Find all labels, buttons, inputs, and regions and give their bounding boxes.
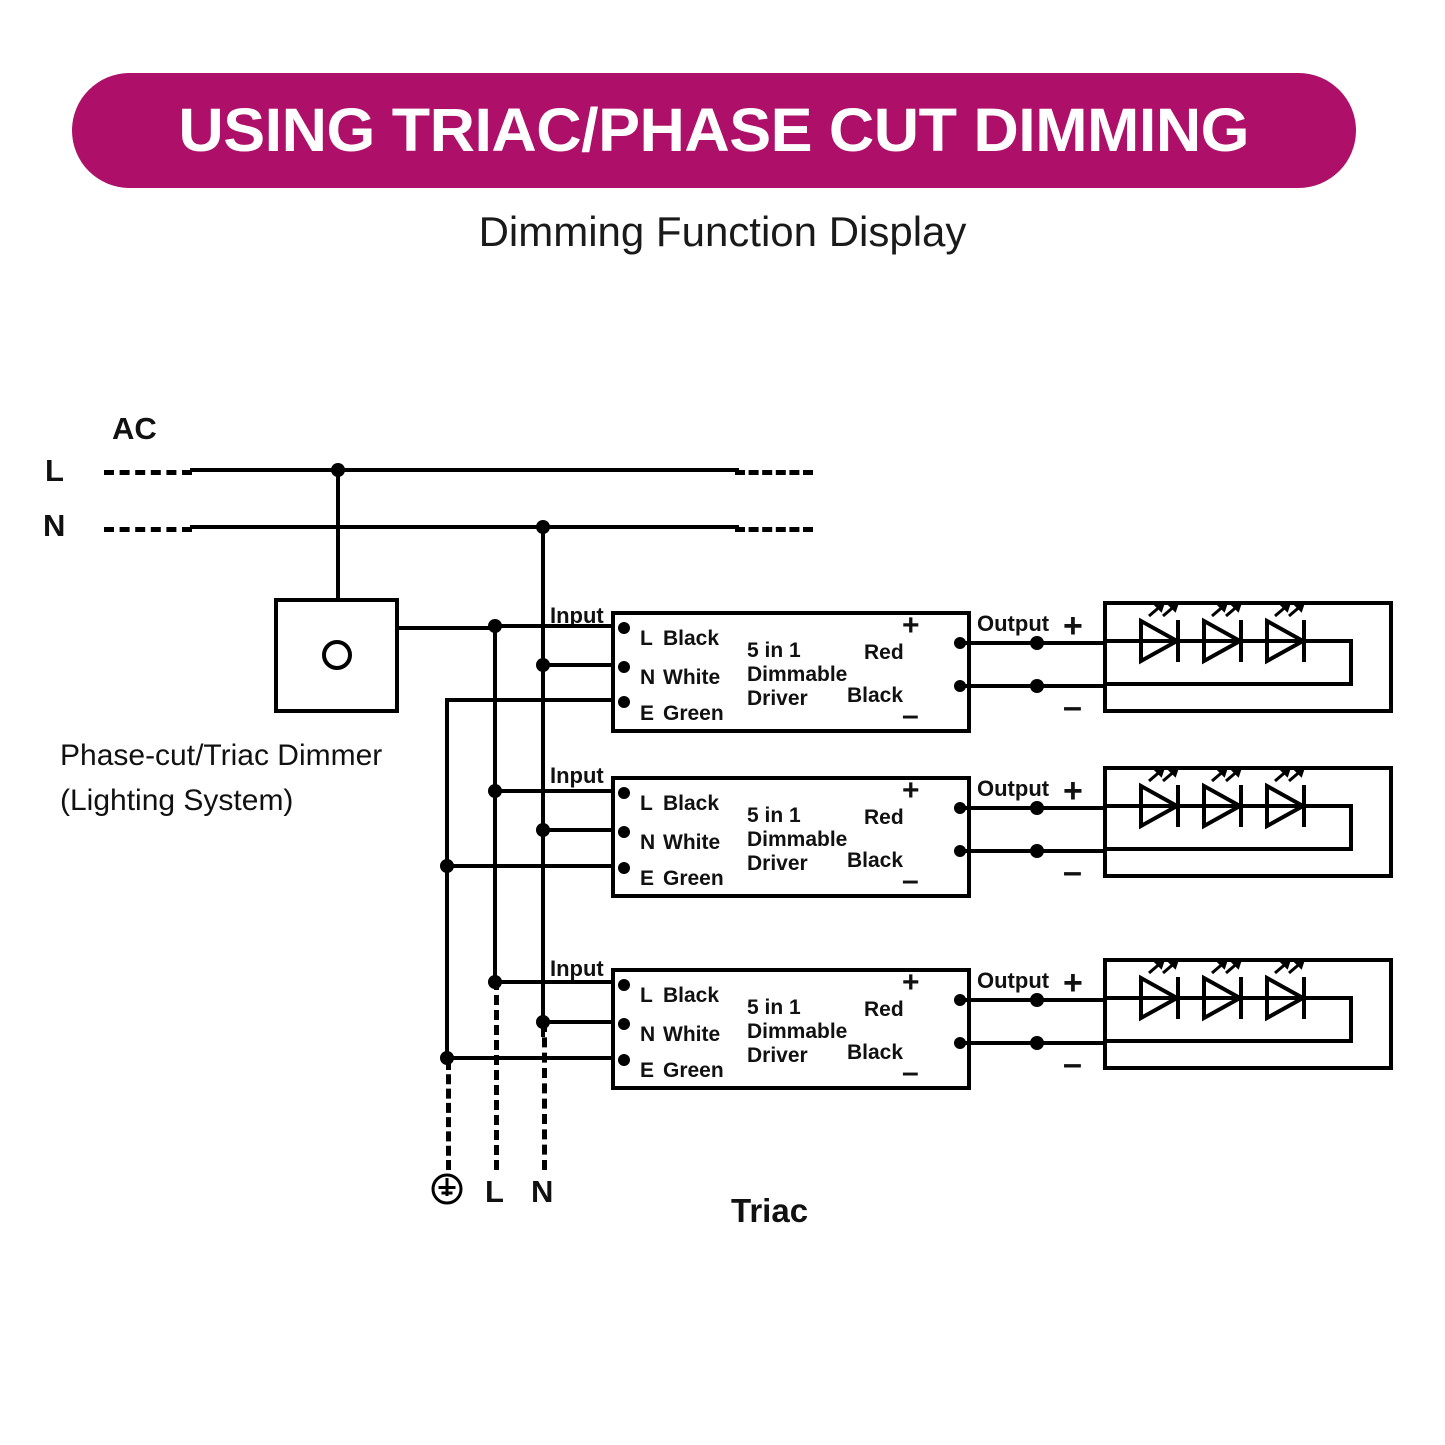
driver-3-pin-l: L bbox=[640, 984, 653, 1008]
supply-line-label: L bbox=[45, 453, 64, 489]
driver-3-wire-l: Black bbox=[663, 984, 719, 1008]
driver-3-term-e-dot bbox=[618, 1054, 630, 1066]
dimmer-caption-line1: Phase-cut/Triac Dimmer bbox=[60, 738, 382, 775]
driver-2-name-3: Driver bbox=[747, 852, 808, 877]
output-label-2: Output bbox=[975, 776, 1051, 802]
diagram-page: USING TRIAC/PHASE CUT DIMMING Dimming Fu… bbox=[0, 0, 1445, 1445]
driver-1-term-l-dot bbox=[618, 622, 630, 634]
driver-2-term-n-dot bbox=[618, 826, 630, 838]
e-feed-1 bbox=[445, 698, 613, 702]
driver-3-plus: + bbox=[902, 968, 920, 998]
driver-1-pin-l: L bbox=[640, 627, 653, 651]
driver-2-out-red: Red bbox=[864, 806, 904, 830]
l-feed-1 bbox=[493, 624, 613, 628]
driver-1-out-red: Red bbox=[864, 641, 904, 665]
driver-1-pin-n: N bbox=[640, 666, 655, 690]
out-minus-node-3 bbox=[1030, 1036, 1044, 1050]
junction-n-rail-bus bbox=[536, 520, 550, 534]
l-rail-dash-left bbox=[104, 470, 192, 475]
rotary-knob-icon[interactable] bbox=[322, 640, 352, 670]
output-label-3: Output bbox=[975, 968, 1051, 994]
l-rail bbox=[190, 468, 739, 472]
l-feed-2 bbox=[493, 789, 613, 793]
n-rail-dash-right bbox=[735, 527, 813, 532]
earth-bus-dash bbox=[446, 1060, 451, 1170]
junction-l-2 bbox=[488, 784, 502, 798]
led-array-icon-2 bbox=[1103, 766, 1393, 878]
driver-1-wire-l: Black bbox=[663, 627, 719, 651]
l-bus bbox=[493, 624, 497, 980]
e-feed-2 bbox=[445, 864, 613, 868]
ac-label: AC bbox=[112, 411, 157, 447]
driver-1-name-3: Driver bbox=[747, 687, 808, 712]
driver-2-out-black: Black bbox=[847, 849, 903, 873]
driver-3-out-red: Red bbox=[864, 998, 904, 1022]
n-rail-to-bus-drop bbox=[541, 525, 545, 1037]
driver-3-term-l-dot bbox=[618, 979, 630, 991]
page-title: USING TRIAC/PHASE CUT DIMMING bbox=[179, 100, 1250, 161]
driver-3-pin-e: E bbox=[640, 1059, 654, 1083]
n-feed-3 bbox=[541, 1020, 613, 1024]
driver-1-term-e-dot bbox=[618, 696, 630, 708]
driver-1-name-1: 5 in 1 bbox=[747, 639, 801, 664]
input-label-2: Input bbox=[548, 763, 606, 789]
l-rail-dash-right bbox=[735, 470, 813, 475]
driver-3-name-1: 5 in 1 bbox=[747, 996, 801, 1021]
driver-2-term-e-dot bbox=[618, 862, 630, 874]
junction-e-3 bbox=[440, 1051, 454, 1065]
out-minus-node-1 bbox=[1030, 679, 1044, 693]
driver-1-wire-e: Green bbox=[663, 702, 724, 726]
l-feed-3 bbox=[493, 980, 613, 984]
junction-l-1 bbox=[488, 619, 502, 633]
driver-3-minus: – bbox=[902, 1058, 919, 1088]
out-plus-node-2 bbox=[1030, 801, 1044, 815]
driver-3-term-n-dot bbox=[618, 1018, 630, 1030]
l-to-dimmer-drop bbox=[336, 468, 340, 600]
junction-n-3 bbox=[536, 1015, 550, 1029]
driver-2-minus: – bbox=[902, 866, 919, 896]
driver-3-wire-e: Green bbox=[663, 1059, 724, 1083]
dimmer-output-wire bbox=[397, 626, 498, 630]
driver-3-pin-n: N bbox=[640, 1023, 655, 1047]
n-feed-1 bbox=[541, 663, 613, 667]
driver-2-plus: + bbox=[902, 776, 920, 806]
input-label-3: Input bbox=[548, 956, 606, 982]
dimmer-caption-line2: (Lighting System) bbox=[60, 783, 293, 820]
junction-n-2 bbox=[536, 823, 550, 837]
driver-1-minus: – bbox=[902, 701, 919, 731]
driver-2-pin-l: L bbox=[640, 792, 653, 816]
driver-3-name-3: Driver bbox=[747, 1044, 808, 1069]
driver-2-pin-e: E bbox=[640, 867, 654, 891]
driver-2-pin-n: N bbox=[640, 831, 655, 855]
driver-2-name-1: 5 in 1 bbox=[747, 804, 801, 829]
n-bus-dash bbox=[542, 1022, 547, 1170]
driver-1-plus: + bbox=[902, 611, 920, 641]
driver-1-out-black: Black bbox=[847, 684, 903, 708]
n-rail bbox=[190, 525, 739, 529]
junction-l-dimmer bbox=[331, 463, 345, 477]
driver-3-name-2: Dimmable bbox=[747, 1020, 847, 1045]
e-feed-3 bbox=[445, 1056, 613, 1060]
out-minus-node-2 bbox=[1030, 844, 1044, 858]
bus-terminal-l-label: L bbox=[485, 1174, 504, 1210]
n-feed-2 bbox=[541, 828, 613, 832]
dimmable-driver-2: L Black N White E Green 5 in 1 Dimmable … bbox=[611, 776, 971, 898]
load-plus-label-1: + bbox=[1063, 607, 1083, 646]
load-minus-label-1: – bbox=[1063, 688, 1082, 727]
led-array-icon-3 bbox=[1103, 958, 1393, 1070]
driver-3-wire-n: White bbox=[663, 1023, 720, 1047]
supply-neutral-label: N bbox=[43, 508, 65, 544]
driver-2-wire-n: White bbox=[663, 831, 720, 855]
dimmable-driver-3: L Black N White E Green 5 in 1 Dimmable … bbox=[611, 968, 971, 1090]
out-plus-node-3 bbox=[1030, 993, 1044, 1007]
n-rail-dash-left bbox=[104, 527, 192, 532]
junction-n-1 bbox=[536, 658, 550, 672]
driver-1-name-2: Dimmable bbox=[747, 663, 847, 688]
page-title-banner: USING TRIAC/PHASE CUT DIMMING bbox=[72, 73, 1356, 188]
bus-terminal-n-label: N bbox=[531, 1174, 553, 1210]
earth-ground-icon bbox=[430, 1172, 464, 1206]
driver-1-pin-e: E bbox=[640, 702, 654, 726]
page-subtitle: Dimming Function Display bbox=[0, 208, 1445, 256]
load-minus-label-3: – bbox=[1063, 1045, 1082, 1084]
driver-2-wire-l: Black bbox=[663, 792, 719, 816]
l-bus-dash bbox=[494, 980, 499, 1170]
junction-l-3 bbox=[488, 975, 502, 989]
junction-e-2 bbox=[440, 859, 454, 873]
driver-1-term-n-dot bbox=[618, 661, 630, 673]
footer-label: Triac bbox=[731, 1192, 808, 1230]
out-plus-node-1 bbox=[1030, 636, 1044, 650]
load-plus-label-2: + bbox=[1063, 772, 1083, 811]
earth-bus bbox=[445, 698, 449, 1060]
driver-2-wire-e: Green bbox=[663, 867, 724, 891]
load-minus-label-2: – bbox=[1063, 853, 1082, 892]
output-label-1: Output bbox=[975, 611, 1051, 637]
driver-3-out-black: Black bbox=[847, 1041, 903, 1065]
driver-2-term-l-dot bbox=[618, 787, 630, 799]
load-plus-label-3: + bbox=[1063, 964, 1083, 1003]
driver-2-name-2: Dimmable bbox=[747, 828, 847, 853]
dimmable-driver-1: L Black N White E Green 5 in 1 Dimmable … bbox=[611, 611, 971, 733]
driver-1-wire-n: White bbox=[663, 666, 720, 690]
led-array-icon-1 bbox=[1103, 601, 1393, 713]
